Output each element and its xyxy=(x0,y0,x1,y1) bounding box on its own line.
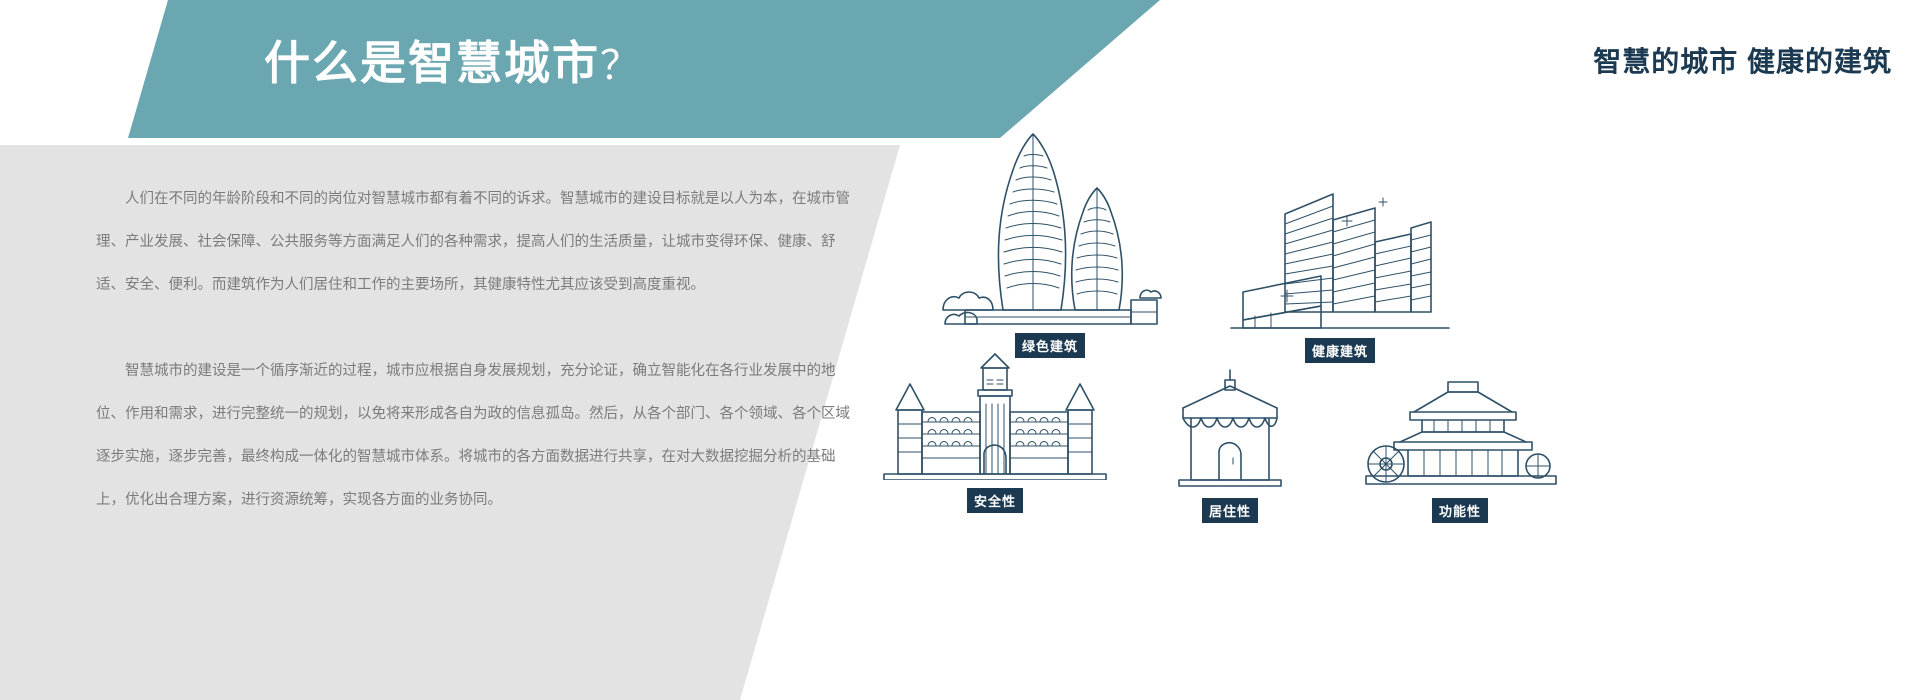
livability-house-icon xyxy=(1155,360,1305,490)
page-title: 什么是智慧城市？ xyxy=(264,36,642,91)
right-header-title: 智慧的城市 健康的建筑 xyxy=(1593,40,1892,80)
illustration-safety: 安全性 xyxy=(850,350,1140,513)
illustration-green-building: 绿色建筑 xyxy=(920,110,1180,358)
page-title-question-mark: ？ xyxy=(600,44,642,88)
healthy-building-icon xyxy=(1225,180,1455,330)
green-building-icon xyxy=(935,110,1165,325)
safety-castle-icon xyxy=(850,350,1140,480)
illustration-livability: 居住性 xyxy=(1130,360,1330,523)
illustration-functionality: 功能性 xyxy=(1350,360,1570,523)
illustration-label-functionality: 功能性 xyxy=(1432,498,1488,523)
functionality-pavilion-icon xyxy=(1360,360,1560,490)
illustration-healthy-building: 健康建筑 xyxy=(1210,180,1470,363)
body-paragraph-1: 人们在不同的年龄阶段和不同的岗位对智慧城市都有着不同的诉求。智慧城市的建设目标就… xyxy=(96,178,856,307)
illustration-label-livability: 居住性 xyxy=(1202,498,1258,523)
illustration-label-safety: 安全性 xyxy=(967,488,1023,513)
illustration-group: 绿色建筑 xyxy=(880,100,1920,700)
body-paragraph-2: 智慧城市的建设是一个循序渐近的过程，城市应根据自身发展规划，充分论证，确立智能化… xyxy=(96,350,856,522)
page-title-text: 什么是智慧城市 xyxy=(264,37,600,89)
body-text-block: 人们在不同的年龄阶段和不同的岗位对智慧城市都有着不同的诉求。智慧城市的建设目标就… xyxy=(96,178,856,522)
